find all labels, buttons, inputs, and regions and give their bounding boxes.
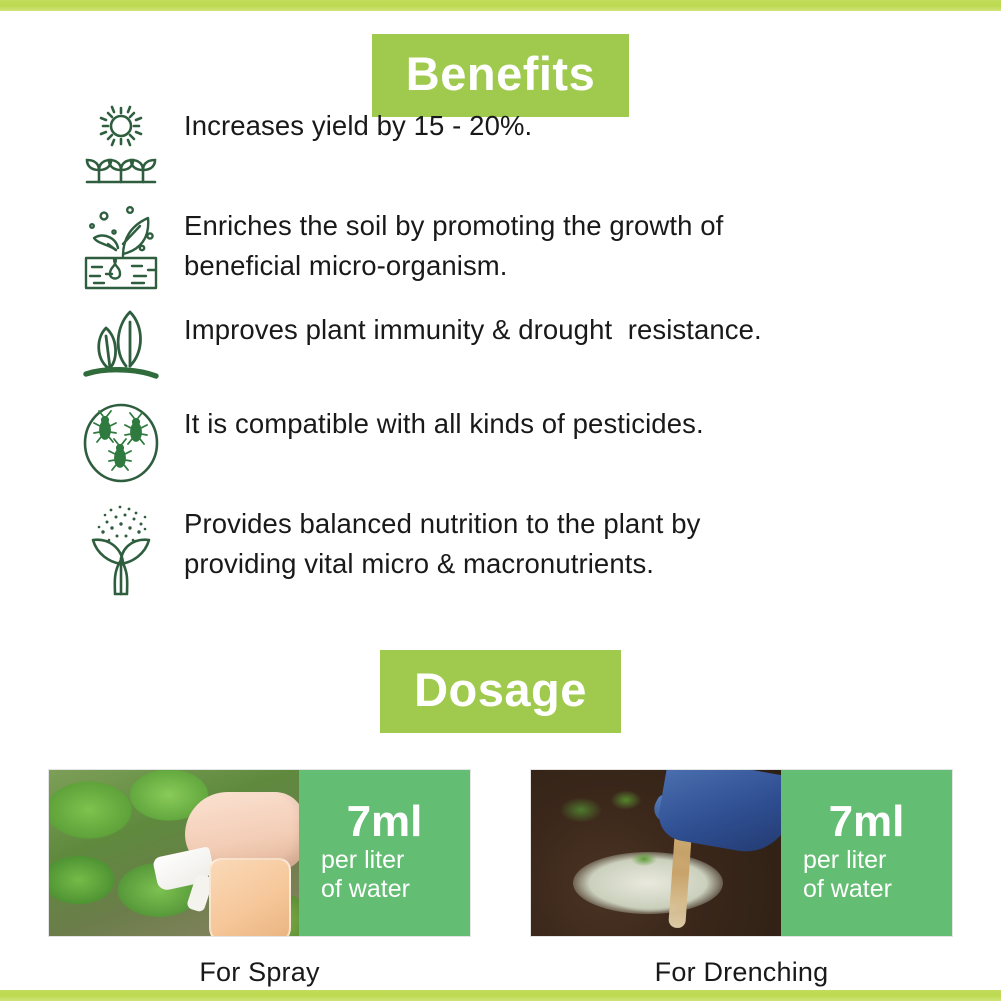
dosage-heading: Dosage — [380, 650, 621, 733]
nutrients-plant-icon — [78, 498, 164, 598]
dosage-panel: 7ml per liter of water — [781, 770, 952, 936]
benefits-list: Increases yield by 15 - 20%. — [0, 100, 1001, 612]
bottom-accent-strip — [0, 990, 1001, 1001]
benefit-text: Enriches the soil by promoting the growt… — [164, 200, 723, 286]
two-leaves-icon — [78, 304, 164, 384]
benefit-item: Enriches the soil by promoting the growt… — [0, 200, 1001, 290]
benefit-text: Improves plant immunity & drought resist… — [164, 304, 762, 350]
dose-line-1: per liter — [303, 846, 404, 875]
plant-soil-icon — [78, 200, 164, 290]
benefit-item: Increases yield by 15 - 20%. — [0, 100, 1001, 186]
top-accent-strip — [0, 0, 1001, 11]
benefit-item: Provides balanced nutrition to the plant… — [0, 498, 1001, 598]
product-benefits-infographic: Benefits — [0, 0, 1001, 1001]
benefit-text: Increases yield by 15 - 20%. — [164, 100, 532, 146]
dosage-card-spray: 7ml per liter of water For Spray — [48, 769, 471, 988]
dosage-caption: For Drenching — [530, 957, 953, 988]
benefit-text: Provides balanced nutrition to the plant… — [164, 498, 700, 584]
dose-amount: 7ml — [347, 800, 423, 844]
sun-sprouts-icon — [78, 100, 164, 186]
dosage-cards: 7ml per liter of water For Spray — [0, 769, 1001, 988]
dose-line-2: of water — [303, 875, 410, 904]
dose-line-1: per liter — [785, 846, 886, 875]
benefit-text: It is compatible with all kinds of pesti… — [164, 398, 704, 444]
dosage-panel: 7ml per liter of water — [299, 770, 470, 936]
benefit-item: It is compatible with all kinds of pesti… — [0, 398, 1001, 484]
hand-spraying-plants-photo — [49, 770, 299, 936]
seedling-shape — [627, 844, 661, 874]
spray-bottle-shape — [209, 858, 291, 936]
dosage-caption: For Spray — [48, 957, 471, 988]
dosage-card-drenching: 7ml per liter of water For Drenching — [530, 769, 953, 988]
dosage-banner-wrap: Dosage — [0, 650, 1001, 733]
insects-circle-icon — [78, 398, 164, 484]
benefit-item: Improves plant immunity & drought resist… — [0, 304, 1001, 384]
watering-can-drenching-soil-photo — [531, 770, 781, 936]
dosage-section: Dosage 7ml per liter of water — [0, 650, 1001, 988]
dose-amount: 7ml — [829, 800, 905, 844]
dosage-card-body: 7ml per liter of water — [48, 769, 471, 937]
dose-line-2: of water — [785, 875, 892, 904]
dosage-card-body: 7ml per liter of water — [530, 769, 953, 937]
